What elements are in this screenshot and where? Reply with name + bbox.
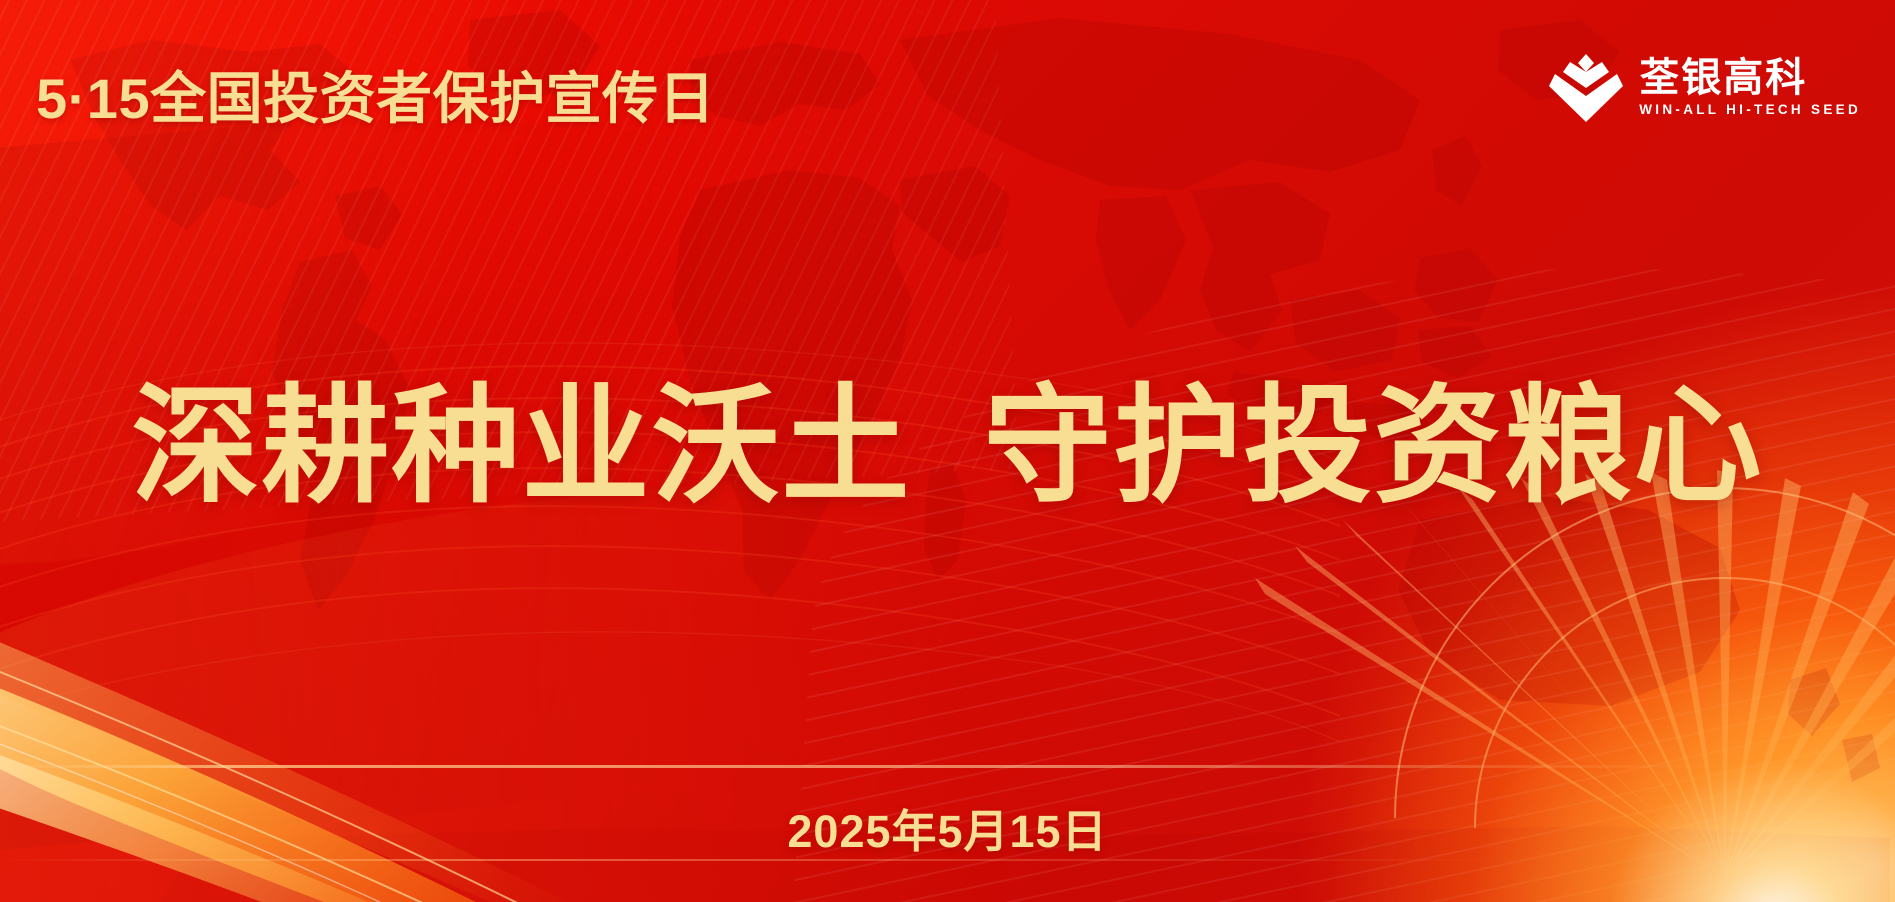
company-logo: 荃银高科 WIN-ALL HI-TECH SEED (1549, 52, 1861, 124)
chevron-seed-logo-icon (1549, 52, 1623, 124)
event-title: 5·15全国投资者保护宣传日 (36, 54, 715, 135)
logo-company-name-cn: 荃银高科 (1639, 57, 1861, 99)
event-date: 2025年5月15日 (0, 795, 1895, 860)
logo-text-block: 荃银高科 WIN-ALL HI-TECH SEED (1639, 57, 1861, 118)
headline-part-1: 深耕种业沃土 (131, 375, 911, 518)
headline-part-2: 守护投资粮心 (984, 375, 1764, 518)
logo-company-name-en: WIN-ALL HI-TECH SEED (1639, 102, 1861, 118)
main-headline: 深耕种业沃土守护投资粮心 (0, 378, 1895, 516)
horizontal-light-line (0, 765, 1895, 768)
headline-line: 深耕种业沃土守护投资粮心 (131, 378, 1763, 516)
investor-protection-day-banner: 5·15全国投资者保护宣传日 荃银高科 WIN-ALL HI-TECH SEED… (0, 0, 1895, 902)
